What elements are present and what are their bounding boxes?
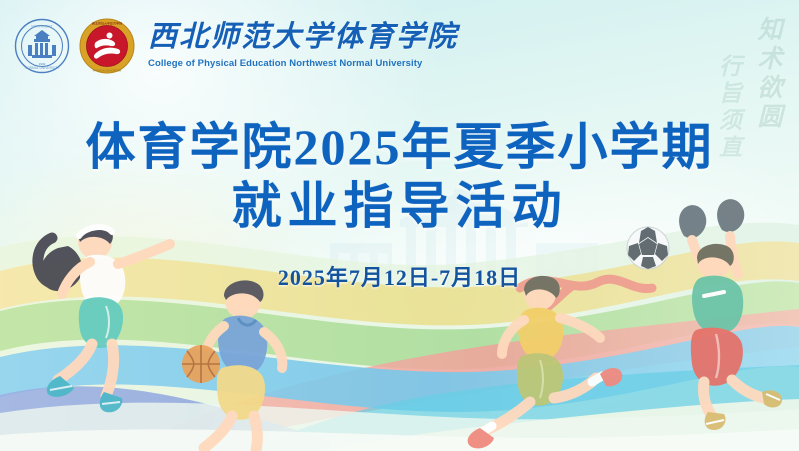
svg-text:NORMAL UNIVERSITY: NORMAL UNIVERSITY <box>25 66 60 70</box>
event-date: 2025年7月12日-7月18日 <box>0 260 799 292</box>
svg-text:PHYSICAL EDUCATION: PHYSICAL EDUCATION <box>93 69 122 73</box>
basketball-player <box>182 280 282 450</box>
female-runner <box>38 225 170 413</box>
motto-column-right: 知术欲圆 <box>750 16 786 162</box>
motto-column-left: 行旨须直 <box>711 54 744 162</box>
finish-line-ribbon <box>520 279 652 320</box>
brand-block: 西北师范大学体育学院 College of Physical Education… <box>148 23 458 69</box>
svg-text:西北师范大学体育学院: 西北师范大学体育学院 <box>92 21 122 26</box>
sprinter-at-finish-line <box>468 276 652 449</box>
college-of-physical-education-emblem: 西北师范大学体育学院 PHYSICAL EDUCATION <box>79 18 135 74</box>
header: NORTHWEST NORMAL UNIVERSITY 1902 西北师范大学体… <box>14 18 458 74</box>
title-line-2: 就业指导活动 <box>0 177 799 236</box>
campus-building-silhouette <box>330 189 598 329</box>
svg-text:NORTHWEST: NORTHWEST <box>31 25 52 29</box>
brand-name-en: College of Physical Education Northwest … <box>148 58 458 69</box>
soccer-ball <box>627 227 669 269</box>
colorful-ribbon-waves <box>0 151 799 451</box>
poster-canvas: 知术欲圆 行旨须直 <box>0 0 799 451</box>
brand-name-cn: 西北师范大学体育学院 <box>148 23 458 52</box>
title-line-1: 体育学院2025年夏季小学期 <box>0 118 799 177</box>
glow-warm-left <box>0 150 340 410</box>
northwest-normal-university-seal: NORTHWEST NORMAL UNIVERSITY 1902 <box>14 18 70 74</box>
svg-text:1902: 1902 <box>39 62 46 66</box>
glow-center <box>230 170 660 451</box>
basketball <box>182 345 220 383</box>
motto-watermark: 知术欲圆 行旨须直 <box>711 16 785 162</box>
soccer-goalkeeper <box>679 199 782 430</box>
glow-right <box>379 120 799 451</box>
title-block: 体育学院2025年夏季小学期 就业指导活动 2025年7月12日-7月18日 <box>0 118 799 292</box>
